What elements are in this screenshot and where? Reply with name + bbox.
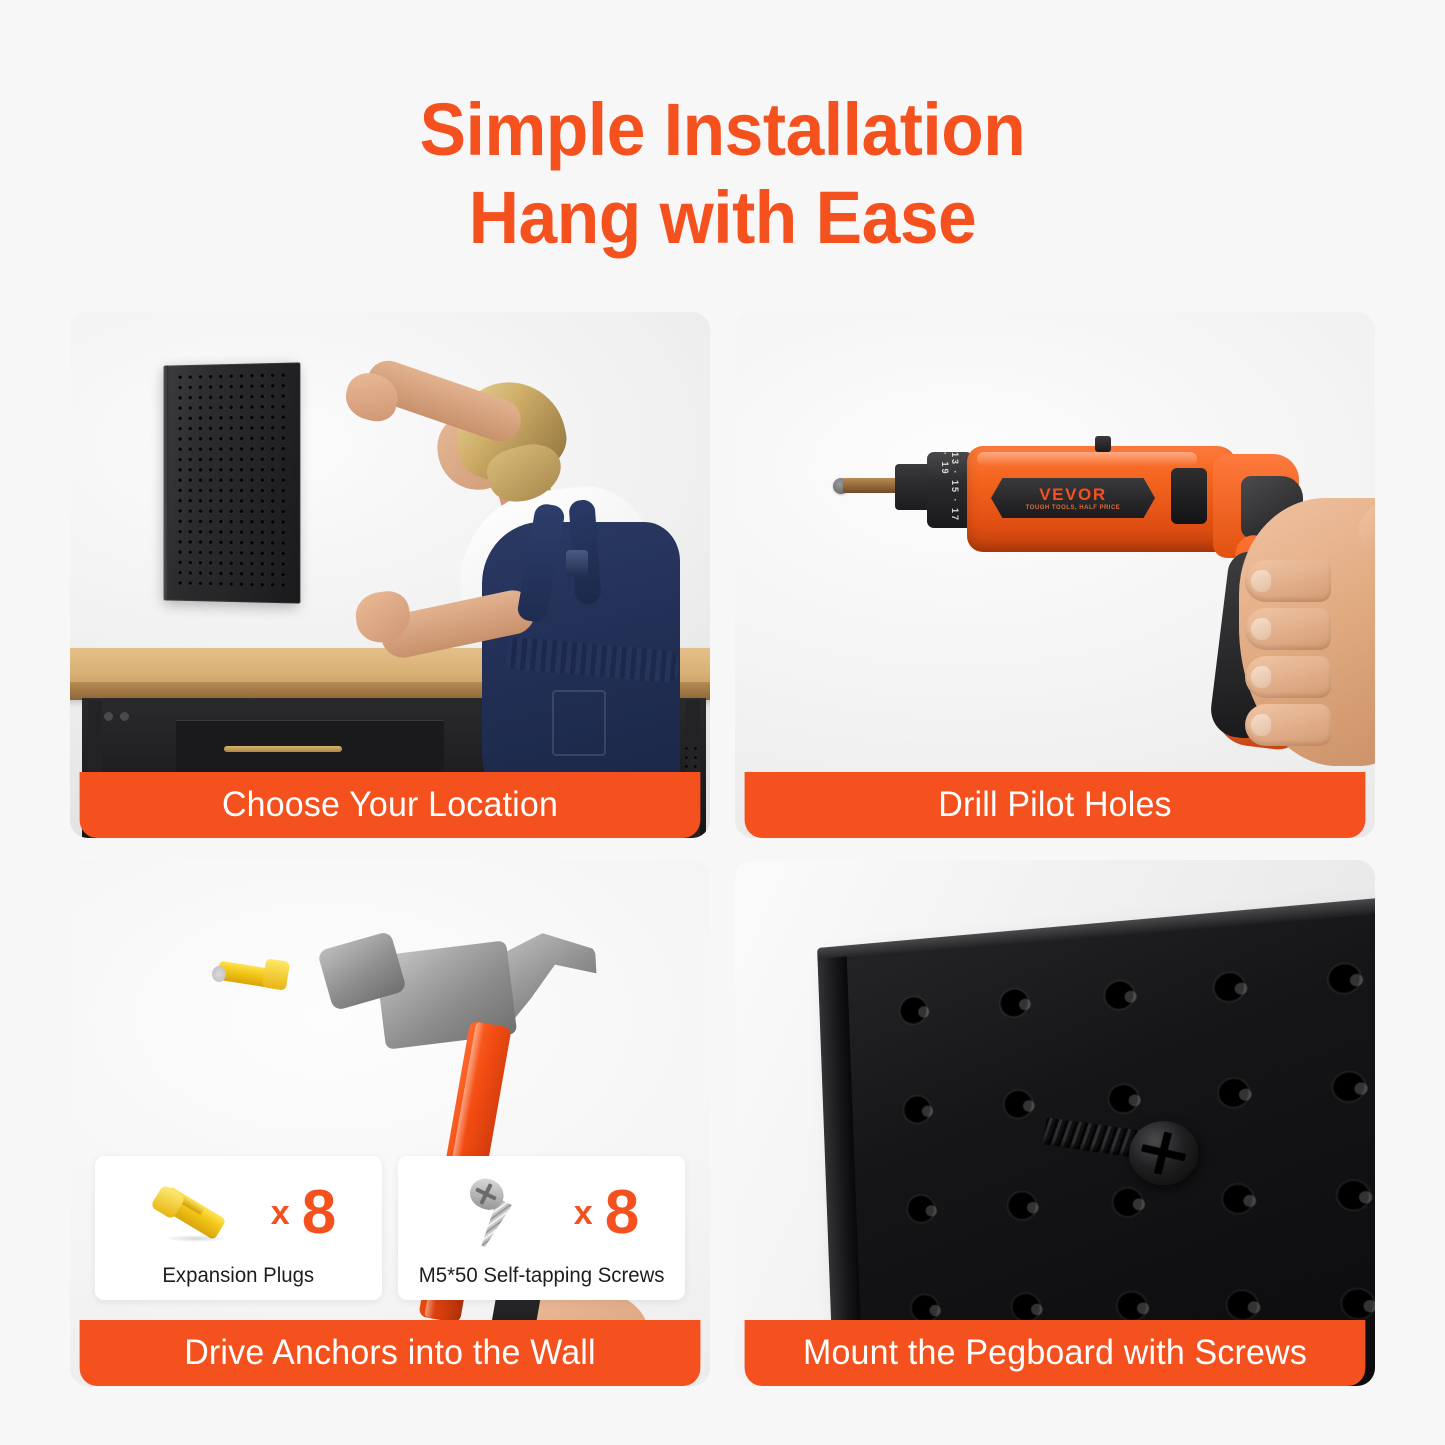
fingernail (1251, 714, 1271, 736)
overall-buckle (566, 550, 588, 576)
pegboard-panel (166, 362, 300, 603)
drill-chuck (895, 464, 931, 510)
brand-tagline: TOUGH TOOLS, HALF PRICE (1026, 505, 1121, 511)
finger (1245, 656, 1331, 698)
step-2-photo: 13 · 15 · 17 · 19 VEVOR TOUGH TOOLS, HAL… (735, 312, 1375, 838)
part-label: M5*50 Self-tapping Screws (419, 1264, 665, 1288)
page-title-line-2: Hang with Ease (43, 174, 1401, 262)
step-3-caption: Drive Anchors into the Wall (80, 1320, 701, 1386)
expansion-plug-icon (141, 1173, 259, 1253)
step-card-4: Mount the Pegboard with Screws (735, 860, 1375, 1386)
cordless-screwdriver: 13 · 15 · 17 · 19 VEVOR TOUGH TOOLS, HAL… (821, 442, 1375, 772)
finger (1245, 560, 1331, 602)
parts-callout-card: x 8 Expansion Plugs (95, 1156, 382, 1300)
installation-steps-grid: Choose Your Location 13 · 15 · 17 · 19 V… (70, 312, 1375, 1386)
page-title: Simple Installation Hang with Ease (43, 86, 1401, 262)
finger (1245, 608, 1331, 650)
multiplier-symbol: x (574, 1194, 593, 1233)
step-3-photo: x 8 Expansion Plugs (70, 860, 710, 1386)
step-card-1: Choose Your Location (70, 312, 710, 838)
fingernail (1251, 570, 1271, 592)
part-quantity: 8 (302, 1182, 336, 1244)
workbench-knob (120, 712, 129, 721)
self-tapping-screw-icon (444, 1173, 562, 1253)
screw-art (466, 1177, 540, 1251)
page-title-line-1: Simple Installation (43, 86, 1401, 174)
vevor-logo-plate: VEVOR TOUGH TOOLS, HALF PRICE (991, 478, 1155, 518)
step-card-3: x 8 Expansion Plugs (70, 860, 710, 1386)
plug-collar (262, 958, 290, 990)
step-4-photo (735, 860, 1375, 1386)
fingernail (1251, 666, 1271, 688)
workbench-drawer-handle (224, 746, 342, 752)
part-quantity: 8 (605, 1182, 639, 1244)
step-1-photo (70, 312, 710, 838)
parts-callout-row: x 8 (408, 1172, 675, 1254)
overall-pocket (552, 690, 606, 756)
drill-bit (843, 478, 901, 493)
finger (1245, 704, 1331, 746)
mounting-screw (1043, 1103, 1224, 1229)
parts-callout-card: x 8 M5*50 Self-tapping Screws (398, 1156, 685, 1300)
thumb (1352, 477, 1375, 570)
expansion-plug-art (159, 1183, 239, 1245)
gripping-hand (1239, 498, 1375, 766)
step-4-caption: Mount the Pegboard with Screws (745, 1320, 1366, 1386)
expansion-plug-in-wall (218, 958, 292, 992)
part-label: Expansion Plugs (163, 1264, 315, 1288)
parts-callout-row: x 8 (105, 1172, 372, 1254)
pegboard-closeup (845, 903, 1375, 1386)
direction-switch (1095, 436, 1111, 452)
plug-shadow (165, 1235, 227, 1242)
step-card-2: 13 · 15 · 17 · 19 VEVOR TOUGH TOOLS, HAL… (735, 312, 1375, 838)
parts-callout-group: x 8 Expansion Plugs (95, 1156, 685, 1300)
brand-name: VEVOR (1039, 486, 1107, 503)
multiplier-symbol: x (271, 1194, 290, 1233)
drill-vent (1171, 468, 1207, 524)
step-2-caption: Drill Pilot Holes (745, 772, 1366, 838)
workbench-knob (104, 712, 113, 721)
step-1-caption: Choose Your Location (80, 772, 701, 838)
fingernail (1251, 618, 1271, 640)
